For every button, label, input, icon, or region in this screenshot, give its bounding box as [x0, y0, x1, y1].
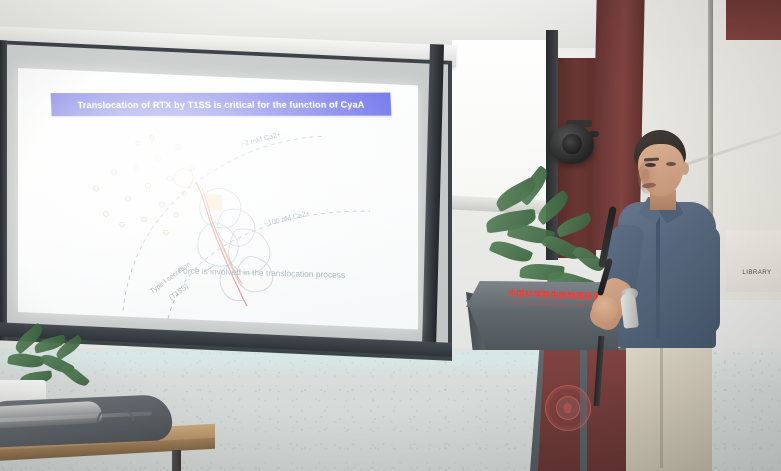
- table-leg: [172, 450, 181, 471]
- screen-edge-left: [0, 40, 7, 340]
- calcium-ions: [93, 133, 194, 236]
- presenter-pants: [626, 340, 712, 471]
- shirt-placket: [656, 208, 660, 338]
- door-frame: [726, 230, 781, 292]
- presentation-photo: LIBRARY Translocation of RTX by T1SS is …: [0, 0, 781, 471]
- presenter-eye-left: [645, 163, 656, 167]
- speaker-cone: [562, 134, 582, 154]
- projected-slide: Translocation of RTX by T1SS is critical…: [18, 68, 418, 329]
- library-sign: LIBRARY: [736, 266, 778, 278]
- rtx-coil: [174, 168, 193, 188]
- institute-seal-icon: [545, 385, 591, 431]
- presenter: [598, 128, 728, 471]
- pants-seam: [660, 344, 663, 468]
- presenter-eye-right: [666, 162, 676, 166]
- presenter-ear: [680, 162, 689, 175]
- far-wall-panel: [726, 0, 781, 40]
- presenter-nose: [642, 169, 650, 181]
- slide-diagram: [18, 68, 418, 329]
- library-sign-label: LIBRARY: [742, 269, 771, 276]
